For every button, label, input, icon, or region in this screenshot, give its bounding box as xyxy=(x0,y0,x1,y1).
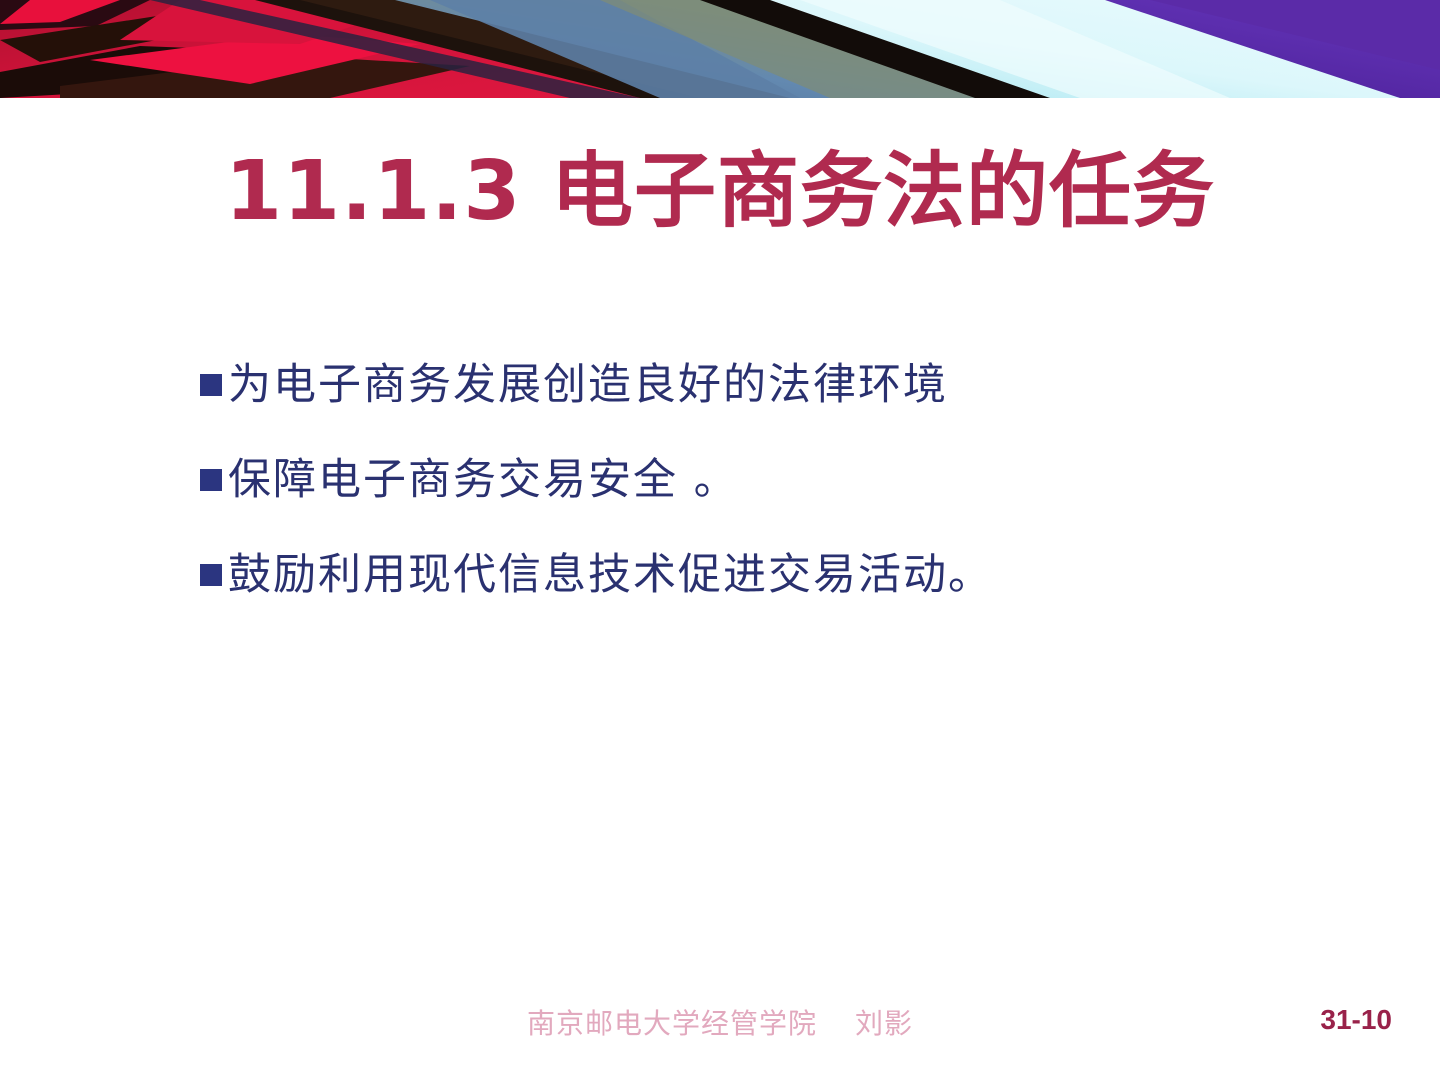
header-banner xyxy=(0,0,1440,98)
bullet-list: 为电子商务发展创造良好的法律环境 保障电子商务交易安全 。 鼓励利用现代信息技术… xyxy=(200,358,1300,643)
page-number: 31-10 xyxy=(1320,1004,1392,1036)
slide-footer: 南京邮电大学经管学院刘影 31-10 xyxy=(0,1002,1440,1046)
footer-author: 刘影 xyxy=(855,1007,913,1040)
banner-graphic xyxy=(0,0,1440,98)
list-item-label: 为电子商务发展创造良好的法律环境 xyxy=(228,358,1300,413)
square-bullet-icon xyxy=(200,469,222,491)
list-item-label: 保障电子商务交易安全 。 xyxy=(228,453,1300,508)
footer-institution: 南京邮电大学经管学院 xyxy=(527,1007,817,1040)
footer-credit: 南京邮电大学经管学院刘影 xyxy=(0,1002,1440,1042)
square-bullet-icon xyxy=(200,564,222,586)
page-title: 11.1.3 电子商务法的任务 xyxy=(0,148,1440,237)
list-item: 保障电子商务交易安全 。 xyxy=(200,453,1300,508)
square-bullet-icon xyxy=(200,374,222,396)
list-item-label: 鼓励利用现代信息技术促进交易活动。 xyxy=(228,548,1300,603)
list-item: 鼓励利用现代信息技术促进交易活动。 xyxy=(200,548,1300,603)
list-item: 为电子商务发展创造良好的法律环境 xyxy=(200,358,1300,413)
